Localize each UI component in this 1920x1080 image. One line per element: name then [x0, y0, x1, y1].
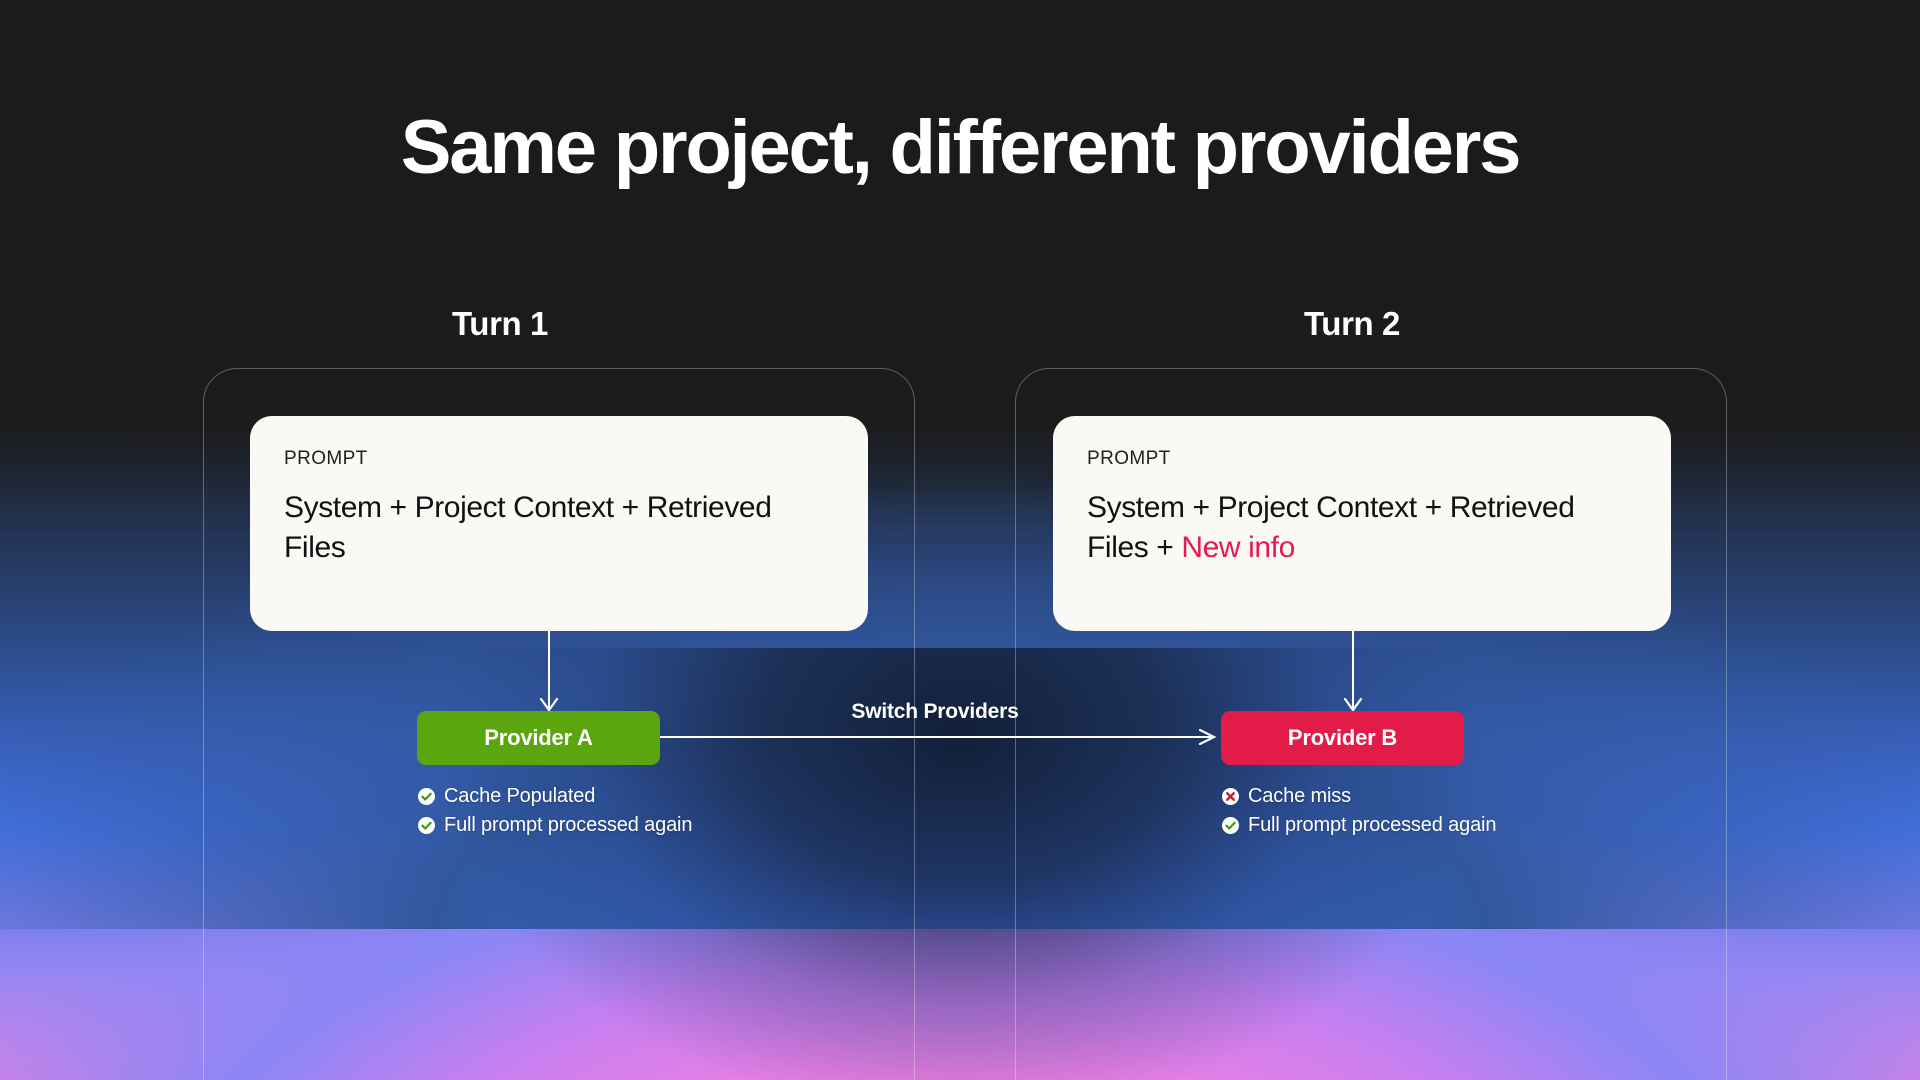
prompt-card-kicker-2: PROMPT	[1087, 448, 1637, 470]
turn-label-1: Turn 1	[300, 305, 700, 343]
page-title: Same project, different providers	[0, 104, 1920, 191]
right-arrow-head-icon	[1199, 729, 1217, 745]
provider-a-pill[interactable]: Provider A	[417, 711, 660, 765]
switch-connector-line	[660, 736, 1211, 738]
check-circle-icon	[1222, 817, 1239, 834]
outcome-list-b: Cache miss Full prompt processed again	[1222, 785, 1496, 843]
down-arrow-icon-1	[536, 631, 562, 711]
prompt-card-body-1: System + Project Context + Retrieved Fil…	[284, 488, 834, 568]
list-item-label: Full prompt processed again	[444, 814, 692, 837]
provider-b-label: Provider B	[1288, 725, 1397, 751]
list-item: Full prompt processed again	[418, 814, 692, 837]
provider-a-label: Provider A	[484, 725, 592, 751]
list-item: Cache miss	[1222, 785, 1496, 808]
arrow-head	[1344, 698, 1362, 712]
switch-providers-label: Switch Providers	[720, 700, 1150, 724]
outcome-list-a: Cache Populated Full prompt processed ag…	[418, 785, 692, 843]
check-circle-icon	[418, 817, 435, 834]
check-circle-icon	[418, 788, 435, 805]
prompt-card-kicker-1: PROMPT	[284, 448, 834, 470]
turn-label-2: Turn 2	[1152, 305, 1552, 343]
prompt-body-text-1: System + Project Context + Retrieved Fil…	[284, 491, 772, 564]
list-item-label: Cache Populated	[444, 785, 595, 808]
provider-b-pill[interactable]: Provider B	[1221, 711, 1464, 765]
list-item-label: Full prompt processed again	[1248, 814, 1496, 837]
list-item: Full prompt processed again	[1222, 814, 1496, 837]
list-item-label: Cache miss	[1248, 785, 1351, 808]
prompt-card-body-2: System + Project Context + Retrieved Fil…	[1087, 488, 1637, 568]
prompt-card-2: PROMPT System + Project Context + Retrie…	[1053, 416, 1671, 631]
prompt-card-1: PROMPT System + Project Context + Retrie…	[250, 416, 868, 631]
down-arrow-icon-2	[1340, 631, 1366, 711]
prompt-body-highlight-2: New info	[1181, 531, 1295, 564]
arrow-head	[540, 698, 558, 712]
x-circle-icon	[1222, 788, 1239, 805]
slide-canvas: Same project, different providers Turn 1…	[0, 0, 1920, 1080]
list-item: Cache Populated	[418, 785, 692, 808]
prompt-body-text-2: System + Project Context + Retrieved Fil…	[1087, 491, 1575, 564]
